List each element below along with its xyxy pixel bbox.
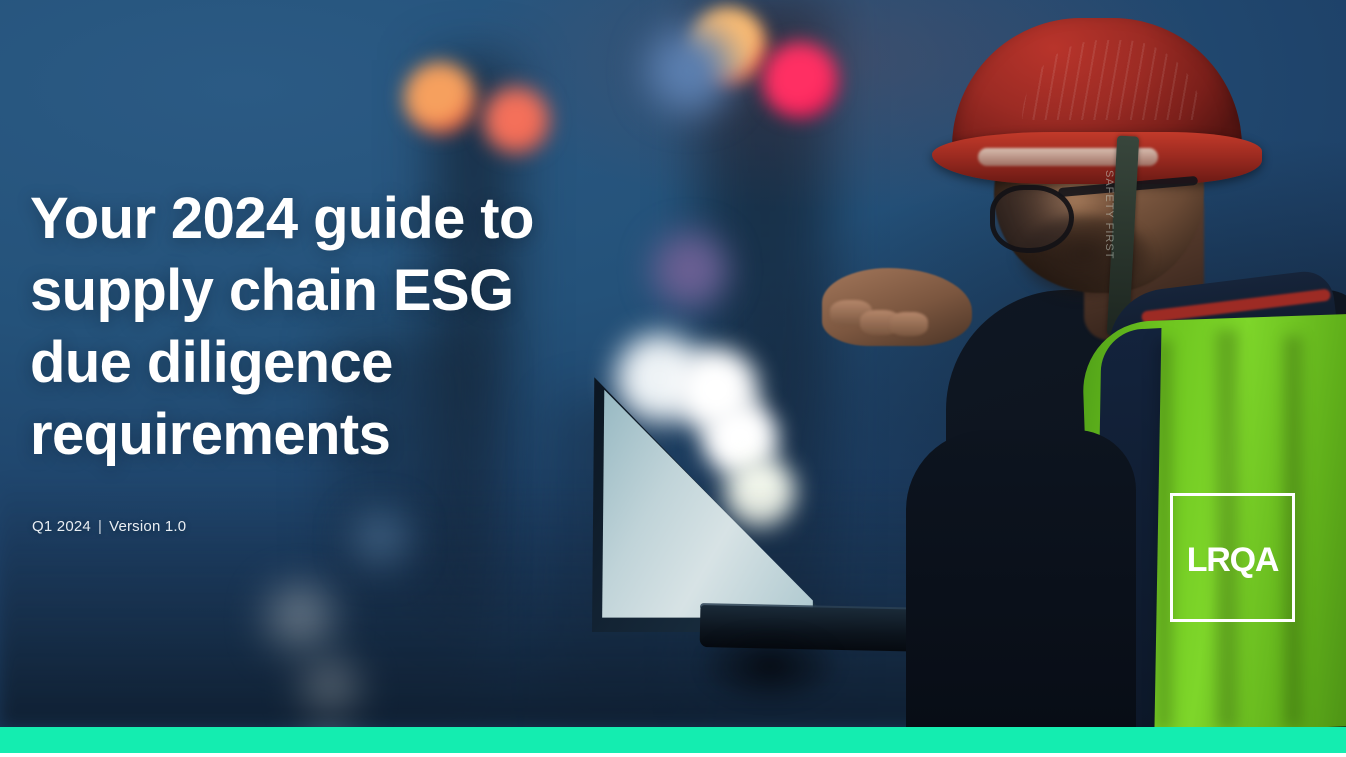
worker-arm (906, 430, 1136, 727)
footer-white-strip (0, 753, 1346, 757)
bokeh-orange-large (404, 62, 476, 134)
page-title: Your 2024 guide to supply chain ESG due … (30, 183, 650, 471)
title-line: requirements (30, 399, 650, 471)
document-meta: Q1 2024|Version 1.0 (32, 518, 186, 535)
bokeh-salmon-small (483, 87, 549, 153)
bokeh-violet-mid (653, 233, 727, 307)
meta-version: Version 1.0 (109, 518, 186, 535)
footer-accent-bar (0, 727, 1346, 753)
worker-finger (890, 312, 928, 336)
laptop-shadow (690, 630, 850, 720)
meta-quarter: Q1 2024 (32, 518, 91, 535)
meta-separator: | (91, 518, 109, 535)
report-cover-page: SAFETY FIRST Your 2024 guide to supply c… (0, 0, 1346, 757)
title-line: due diligence (30, 327, 650, 399)
lrqa-wordmark: LRQA (1173, 543, 1292, 577)
title-line: Your 2024 guide to (30, 183, 650, 255)
title-line: supply chain ESG (30, 255, 650, 327)
hard-hat-ribs (1022, 40, 1202, 120)
bokeh-halo-blue (647, 27, 733, 113)
lrqa-logo: LRQA (1170, 493, 1295, 622)
chin-strap-label: SAFETY FIRST (1103, 170, 1115, 330)
bokeh-magenta (762, 42, 838, 118)
